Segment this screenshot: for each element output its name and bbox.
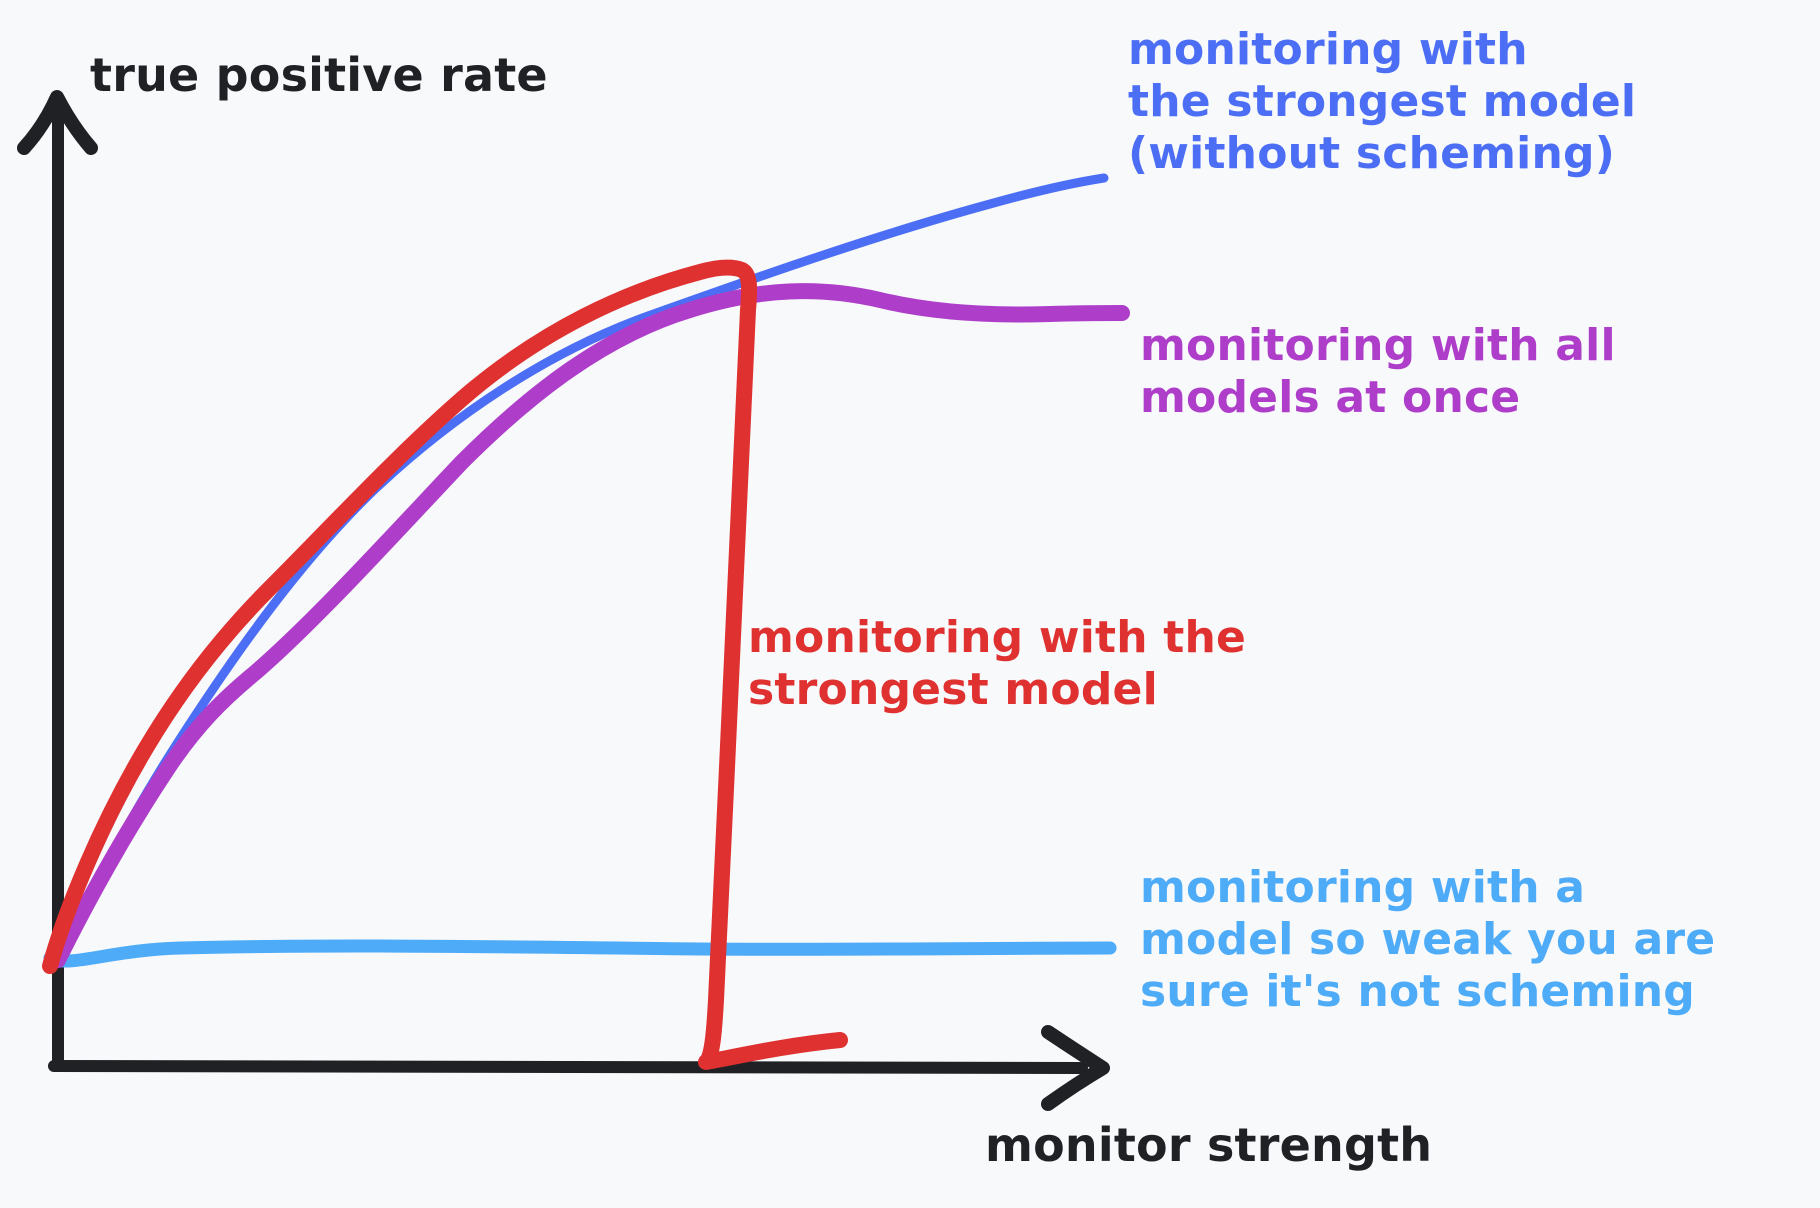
x-axis — [54, 1032, 1103, 1104]
legend-label-blue-strongest-no-scheming: monitoring with the strongest model (wit… — [1128, 24, 1636, 180]
plot-canvas — [0, 0, 1820, 1208]
y-axis-label: true positive rate — [90, 48, 548, 102]
legend-label-purple-all-models: monitoring with all models at once — [1140, 320, 1616, 424]
x-axis-label: monitor strength — [985, 1118, 1432, 1172]
legend-label-red-strongest: monitoring with the strongest model — [748, 612, 1246, 716]
series-blue-strongest-no-scheming — [58, 178, 1104, 956]
legend-label-lightblue-weak-model: monitoring with a model so weak you are … — [1140, 862, 1715, 1018]
chart-figure: true positive rate monitor strength moni… — [0, 0, 1820, 1208]
series-lightblue-weak-model — [50, 946, 1110, 961]
